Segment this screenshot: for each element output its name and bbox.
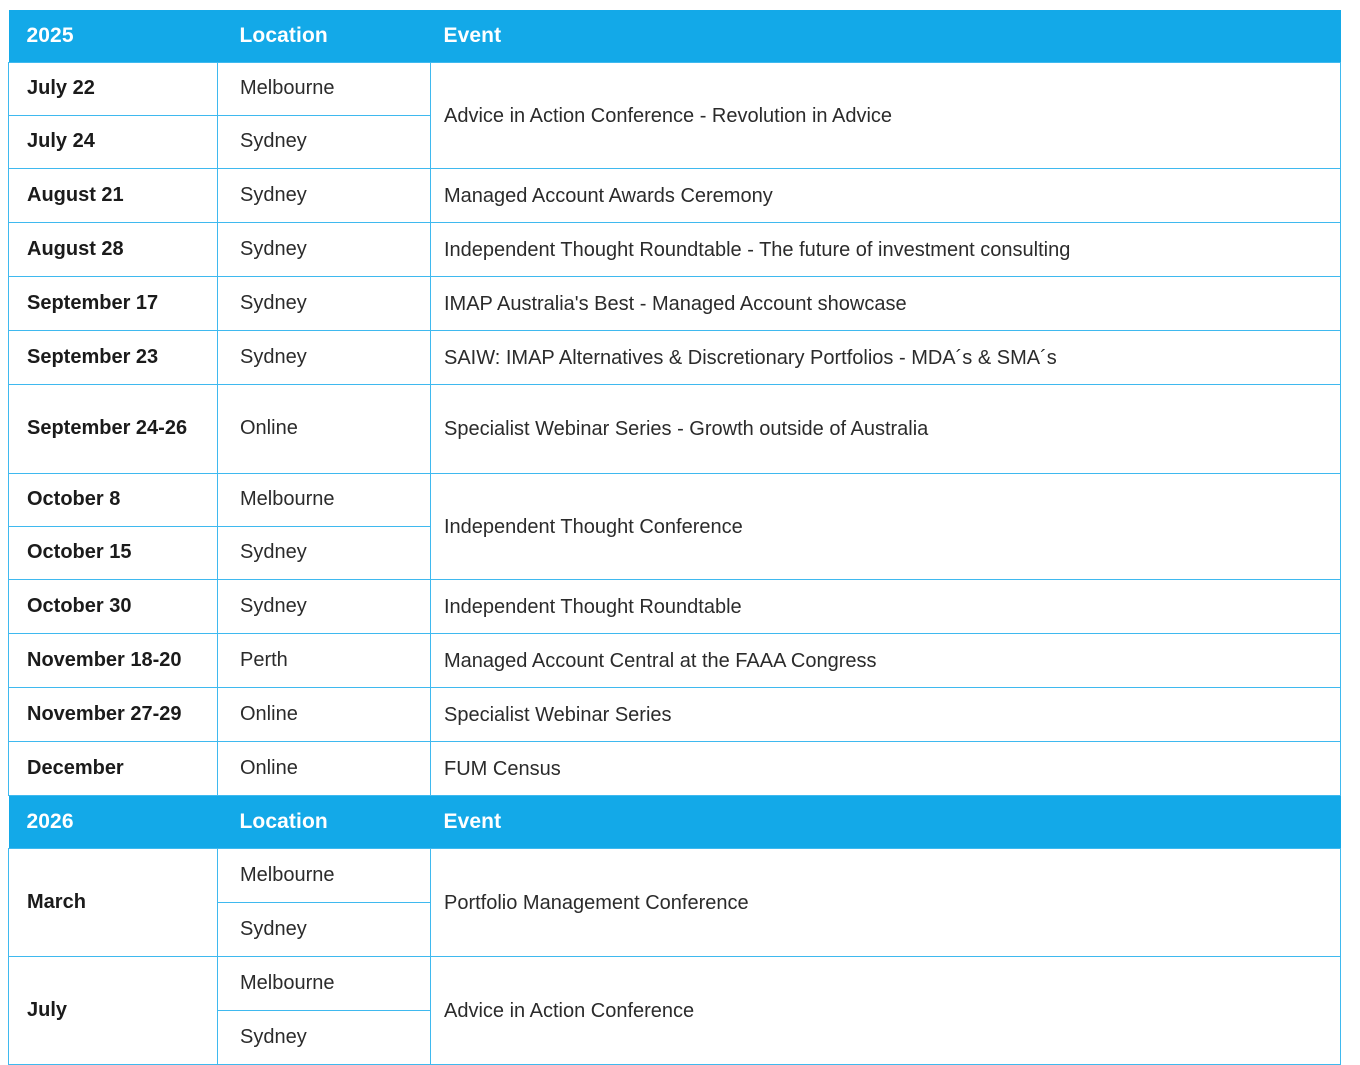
table-row: July Melbourne Advice in Action Conferen… xyxy=(9,957,1341,1011)
cell-event: Portfolio Management Conference xyxy=(431,849,1341,957)
table-row: September 24-26 Online Specialist Webina… xyxy=(9,385,1341,474)
table-row: October 30 Sydney Independent Thought Ro… xyxy=(9,580,1341,634)
cell-date: July 22 xyxy=(9,63,218,116)
table-row: October 8 Melbourne Independent Thought … xyxy=(9,474,1341,527)
cell-location: Sydney xyxy=(218,1011,431,1065)
table-row: August 28 Sydney Independent Thought Rou… xyxy=(9,223,1341,277)
events-calendar: 2025 Location Event July 22 Melbourne Ad… xyxy=(8,10,1340,1065)
cell-event: Managed Account Awards Ceremony xyxy=(431,169,1341,223)
cell-date: December xyxy=(9,742,218,796)
table-row: December Online FUM Census xyxy=(9,742,1341,796)
table-row: September 23 Sydney SAIW: IMAP Alternati… xyxy=(9,331,1341,385)
column-header-location-2026: Location xyxy=(218,796,431,849)
cell-event: Independent Thought Roundtable xyxy=(431,580,1341,634)
column-header-event-2026: Event xyxy=(431,796,1341,849)
cell-event: Specialist Webinar Series - Growth outsi… xyxy=(431,385,1341,474)
cell-event: Independent Thought Roundtable - The fut… xyxy=(431,223,1341,277)
cell-event: Independent Thought Conference xyxy=(431,474,1341,580)
cell-location: Melbourne xyxy=(218,957,431,1011)
cell-date: October 30 xyxy=(9,580,218,634)
cell-event: Advice in Action Conference xyxy=(431,957,1341,1065)
table-row: November 27-29 Online Specialist Webinar… xyxy=(9,688,1341,742)
cell-location: Melbourne xyxy=(218,63,431,116)
cell-event: SAIW: IMAP Alternatives & Discretionary … xyxy=(431,331,1341,385)
cell-event: Specialist Webinar Series xyxy=(431,688,1341,742)
cell-date: September 24-26 xyxy=(9,385,218,474)
cell-location: Sydney xyxy=(218,169,431,223)
cell-location: Sydney xyxy=(218,580,431,634)
cell-location: Sydney xyxy=(218,223,431,277)
cell-date: September 17 xyxy=(9,277,218,331)
cell-location: Sydney xyxy=(218,116,431,169)
cell-location: Perth xyxy=(218,634,431,688)
table-row: August 21 Sydney Managed Account Awards … xyxy=(9,169,1341,223)
cell-date: August 28 xyxy=(9,223,218,277)
cell-date: August 21 xyxy=(9,169,218,223)
cell-date: July 24 xyxy=(9,116,218,169)
cell-location: Melbourne xyxy=(218,474,431,527)
cell-date: November 27-29 xyxy=(9,688,218,742)
column-header-event-2025: Event xyxy=(431,10,1341,63)
header-row-2026: 2026 Location Event xyxy=(9,796,1341,849)
table-row: September 17 Sydney IMAP Australia's Bes… xyxy=(9,277,1341,331)
cell-date: November 18-20 xyxy=(9,634,218,688)
cell-location: Sydney xyxy=(218,903,431,957)
cell-date: March xyxy=(9,849,218,957)
cell-event: Managed Account Central at the FAAA Cong… xyxy=(431,634,1341,688)
cell-date: September 23 xyxy=(9,331,218,385)
cell-location: Melbourne xyxy=(218,849,431,903)
cell-location: Sydney xyxy=(218,331,431,385)
cell-event: Advice in Action Conference - Revolution… xyxy=(431,63,1341,169)
column-header-location-2025: Location xyxy=(218,10,431,63)
cell-location: Sydney xyxy=(218,527,431,580)
cell-location: Online xyxy=(218,742,431,796)
column-header-year-2026: 2026 xyxy=(9,796,218,849)
table-row: July 22 Melbourne Advice in Action Confe… xyxy=(9,63,1341,116)
cell-location: Online xyxy=(218,688,431,742)
cell-location: Online xyxy=(218,385,431,474)
cell-location: Sydney xyxy=(218,277,431,331)
header-row-2025: 2025 Location Event xyxy=(9,10,1341,63)
cell-date: October 15 xyxy=(9,527,218,580)
table-row: March Melbourne Portfolio Management Con… xyxy=(9,849,1341,903)
cell-event: IMAP Australia's Best - Managed Account … xyxy=(431,277,1341,331)
column-header-year-2025: 2025 xyxy=(9,10,218,63)
cell-date: October 8 xyxy=(9,474,218,527)
cell-event: FUM Census xyxy=(431,742,1341,796)
cell-date: July xyxy=(9,957,218,1065)
events-table: 2025 Location Event July 22 Melbourne Ad… xyxy=(8,10,1341,1065)
table-row: November 18-20 Perth Managed Account Cen… xyxy=(9,634,1341,688)
